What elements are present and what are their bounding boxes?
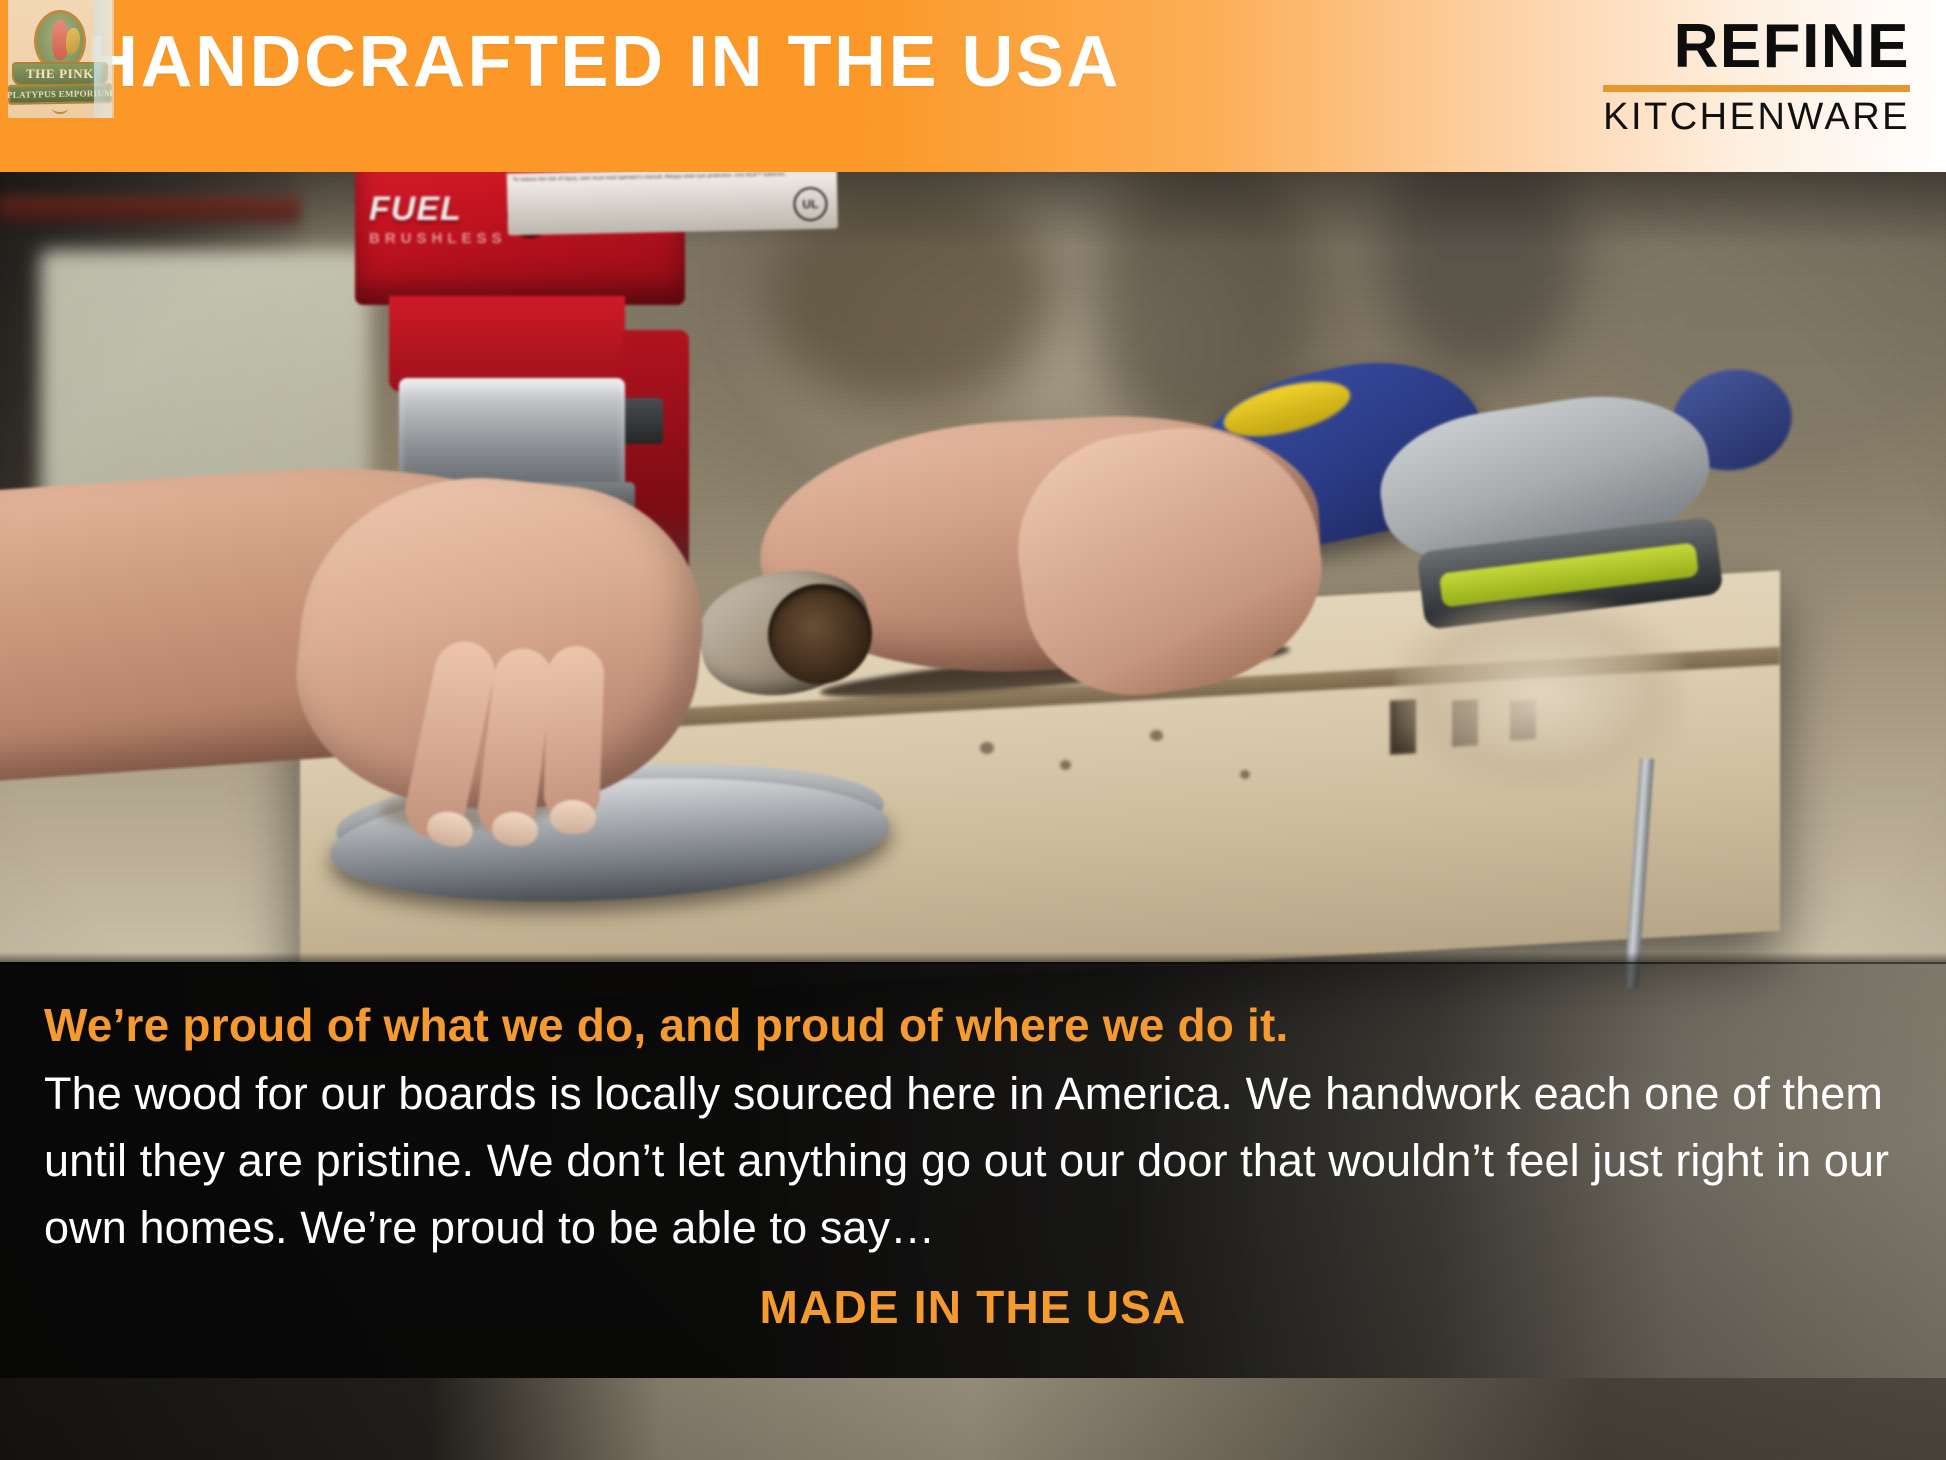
watermark-text-line1: THE PINK [26,66,94,82]
copy-panel: We’re proud of what we do, and proud of … [0,962,1946,1378]
watermark-logo: THE PINK PLATYPUS EMPORIUM [8,0,112,118]
panel-top-fade [0,952,1946,964]
brand-name: REFINE [1603,16,1910,78]
brand-subtitle: KITCHENWARE [1603,98,1910,136]
wood-speck [1060,760,1071,770]
watermark-flourish-icon [52,102,68,114]
router-fuel-badge: FUEL [369,190,462,229]
brand-divider [1603,85,1910,92]
wood-speck [1240,770,1250,779]
promotional-banner: FUEL BRUSHLESS Milwaukee COMPACT ROUTER … [0,0,1946,1460]
panel-footer-text: MADE IN THE USA [0,1280,1946,1334]
brand-logo: REFINE KITCHENWARE [1603,16,1910,136]
ul-certification-icon: UL [793,187,828,222]
wood-speck [1150,730,1163,741]
background-red-rail [0,196,300,222]
panel-lead-text: We’re proud of what we do, and proud of … [44,998,1289,1052]
header-bar: HANDCRAFTED IN THE USA REFINE KITCHENWAR… [0,0,1946,172]
panel-body-text: The wood for our boards is locally sourc… [44,1060,1922,1261]
router-fine-print: To reduce the risk of injury, user must … [513,171,831,186]
router-brushless-label: BRUSHLESS [369,230,507,247]
wood-speck [980,742,994,754]
worker-finger [543,645,605,823]
watermark-edge-strip [94,0,114,118]
fingernail [549,799,596,835]
page-title: HANDCRAFTED IN THE USA [86,26,1121,98]
